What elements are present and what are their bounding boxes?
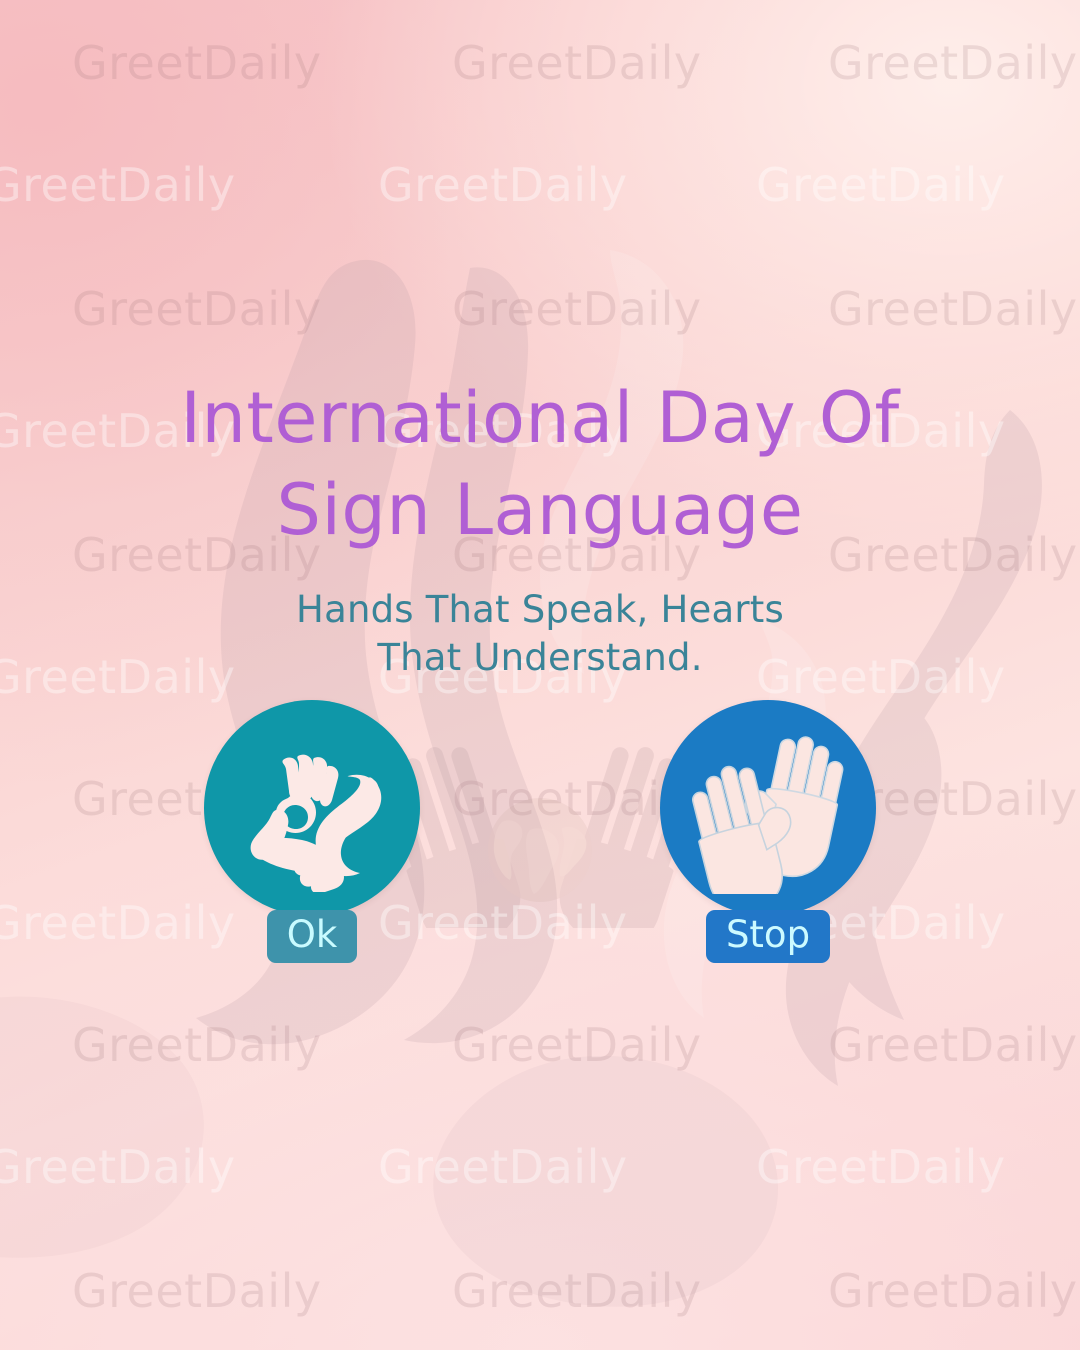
watermark-text: GreetDaily [452, 1264, 702, 1318]
sign-language-interpreting-icon [204, 700, 420, 916]
watermark-text: GreetDaily [452, 36, 702, 90]
symbol-badge-ok[interactable]: Ok [267, 910, 358, 963]
watermark-text: GreetDaily [828, 1264, 1078, 1318]
watermark-text: GreetDaily [72, 1264, 322, 1318]
symbol-item-ok: Ok [204, 700, 420, 963]
watermark-text: GreetDaily [72, 282, 322, 336]
watermark-text: GreetDaily [72, 1018, 322, 1072]
symbol-item-stop: Stop [660, 700, 876, 963]
poster-canvas: GreetDaily GreetDaily GreetDaily GreetDa… [0, 0, 1080, 1350]
watermark-text: GreetDaily [72, 36, 322, 90]
watermark-text: GreetDaily [828, 1018, 1078, 1072]
watermark-text: GreetDaily [378, 158, 628, 212]
watermark-text: GreetDaily [756, 158, 1006, 212]
watermark-text: GreetDaily [0, 158, 236, 212]
watermark-text: GreetDaily [452, 282, 702, 336]
page-title-line-1: International Day Of [0, 372, 1080, 464]
watermark-text: GreetDaily [828, 282, 1078, 336]
watermark-text: GreetDaily [756, 1140, 1006, 1194]
page-subtitle: Hands That Speak, Hearts That Understand… [0, 586, 1080, 682]
page-title: International Day Of Sign Language [0, 372, 1080, 556]
symbol-badge-stop[interactable]: Stop [706, 910, 830, 963]
watermark-text: GreetDaily [0, 1140, 236, 1194]
watermark-text: GreetDaily [452, 1018, 702, 1072]
watermark-text: GreetDaily [378, 1140, 628, 1194]
page-title-line-2: Sign Language [0, 464, 1080, 556]
two-open-hands-icon [660, 700, 876, 916]
page-subtitle-line-1: Hands That Speak, Hearts [0, 586, 1080, 634]
watermark-text: GreetDaily [828, 36, 1078, 90]
symbol-row: Ok [0, 700, 1080, 963]
page-subtitle-line-2: That Understand. [0, 634, 1080, 682]
